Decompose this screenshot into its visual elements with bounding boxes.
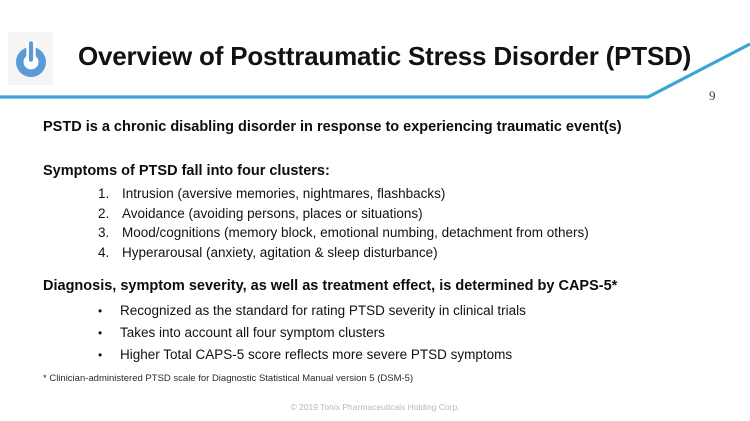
page-title: Overview of Posttraumatic Stress Disorde… (78, 41, 691, 72)
list-marker: 1. (98, 184, 122, 204)
bullet-marker: • (98, 323, 120, 344)
bullet-marker: • (98, 345, 120, 366)
slide-number: 9 (709, 88, 716, 104)
list-marker: 2. (98, 204, 122, 224)
caps5-points-list: • Recognized as the standard for rating … (98, 300, 526, 366)
list-item: 4. Hyperarousal (anxiety, agitation & sl… (98, 243, 589, 263)
lead-statement-definition: PSTD is a chronic disabling disorder in … (43, 119, 622, 135)
company-logo (8, 32, 53, 85)
list-item: • Higher Total CAPS-5 score reflects mor… (98, 344, 526, 366)
footnote: * Clinician-administered PTSD scale for … (43, 373, 413, 384)
copyright-notice: © 2019 Tonix Pharmaceuticals Holding Cor… (0, 402, 750, 412)
list-item: • Takes into account all four symptom cl… (98, 322, 526, 344)
list-item-label: Avoidance (avoiding persons, places or s… (122, 204, 423, 224)
symptom-cluster-list: 1. Intrusion (aversive memories, nightma… (98, 184, 589, 262)
list-item-label: Intrusion (aversive memories, nightmares… (122, 184, 445, 204)
list-item-label: Hyperarousal (anxiety, agitation & sleep… (122, 243, 438, 263)
list-item: 1. Intrusion (aversive memories, nightma… (98, 184, 589, 204)
bullet-marker: • (98, 301, 120, 322)
slide-canvas: Overview of Posttraumatic Stress Disorde… (0, 0, 750, 421)
lead-statement-clusters: Symptoms of PTSD fall into four clusters… (43, 163, 330, 179)
list-item: • Recognized as the standard for rating … (98, 300, 526, 322)
power-standby-icon (14, 39, 48, 79)
list-marker: 4. (98, 243, 122, 263)
list-item-label: Recognized as the standard for rating PT… (120, 300, 526, 321)
list-item: 2. Avoidance (avoiding persons, places o… (98, 204, 589, 224)
list-item-label: Mood/cognitions (memory block, emotional… (122, 223, 589, 243)
list-marker: 3. (98, 223, 122, 243)
lead-statement-diagnosis: Diagnosis, symptom severity, as well as … (43, 278, 617, 294)
list-item: 3. Mood/cognitions (memory block, emotio… (98, 223, 589, 243)
list-item-label: Takes into account all four symptom clus… (120, 322, 385, 343)
list-item-label: Higher Total CAPS-5 score reflects more … (120, 344, 512, 365)
